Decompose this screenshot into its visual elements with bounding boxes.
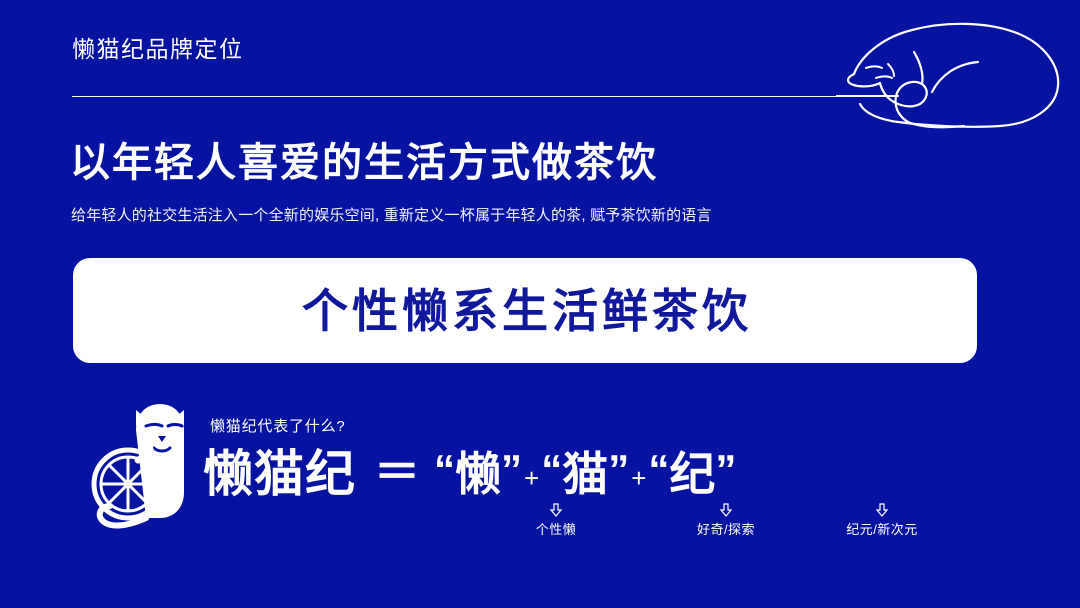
plus-sign-1: + [631, 465, 646, 491]
quote-close-2: ” [715, 446, 736, 493]
brand-meaning-1: 好奇/探索 [656, 503, 796, 536]
plus-sign-0: + [524, 465, 539, 491]
brand-term-char-0: 懒 [455, 448, 501, 500]
arrow-down-icon [720, 503, 732, 517]
quote-close-0: ” [501, 446, 522, 493]
quote-close-1: ” [608, 446, 629, 493]
quote-open-0: “ [434, 446, 455, 493]
brand-meaning-0: 个性懒 [486, 503, 626, 536]
slide-root: 懒猫纪品牌定位 以年轻人喜爱的生活方式做茶饮 给年轻人的社交生活注入一个全新的娱… [0, 0, 1080, 608]
brand-meaning-label-2: 纪元/新次元 [812, 523, 952, 536]
subheadline: 给年轻人的社交生活注入一个全新的娱乐空间, 重新定义一杯属于年轻人的茶, 赋予茶… [71, 206, 712, 226]
arrow-down-icon [550, 503, 562, 517]
equals-sign: ＝ [374, 449, 420, 495]
brand-term-char-1: 猫 [562, 448, 608, 500]
brand-question-label: 懒猫纪代表了什么? [210, 419, 346, 434]
quote-open-1: “ [541, 446, 562, 493]
brand-equation: 懒猫纪 ＝ “懒” + “猫” + “纪” [203, 443, 736, 505]
brand-term-1: “猫” [541, 451, 629, 497]
slogan-panel: 个性懒系生活鲜茶饮 [73, 258, 977, 363]
brand-term-0: “懒” [434, 451, 522, 497]
brand-meaning-label-0: 个性懒 [486, 523, 626, 536]
headline: 以年轻人喜爱的生活方式做茶饮 [70, 141, 658, 185]
quote-open-2: “ [648, 446, 669, 493]
header-divider [72, 96, 895, 97]
brand-meaning-2: 纪元/新次元 [812, 503, 952, 536]
brand-term-char-2: 纪 [669, 448, 715, 500]
header: 懒猫纪品牌定位 [72, 38, 1012, 108]
brand-meaning-label-1: 好奇/探索 [656, 523, 796, 536]
brand-term-2: “纪” [648, 451, 736, 497]
brand-name: 懒猫纪 [203, 449, 356, 499]
arrow-down-icon [876, 503, 888, 517]
slogan-text: 个性懒系生活鲜茶饮 [298, 288, 752, 334]
page-title: 懒猫纪品牌定位 [72, 38, 1012, 61]
brand-meanings: 个性懒 好奇/探索 纪元/新次元 [0, 503, 1080, 551]
